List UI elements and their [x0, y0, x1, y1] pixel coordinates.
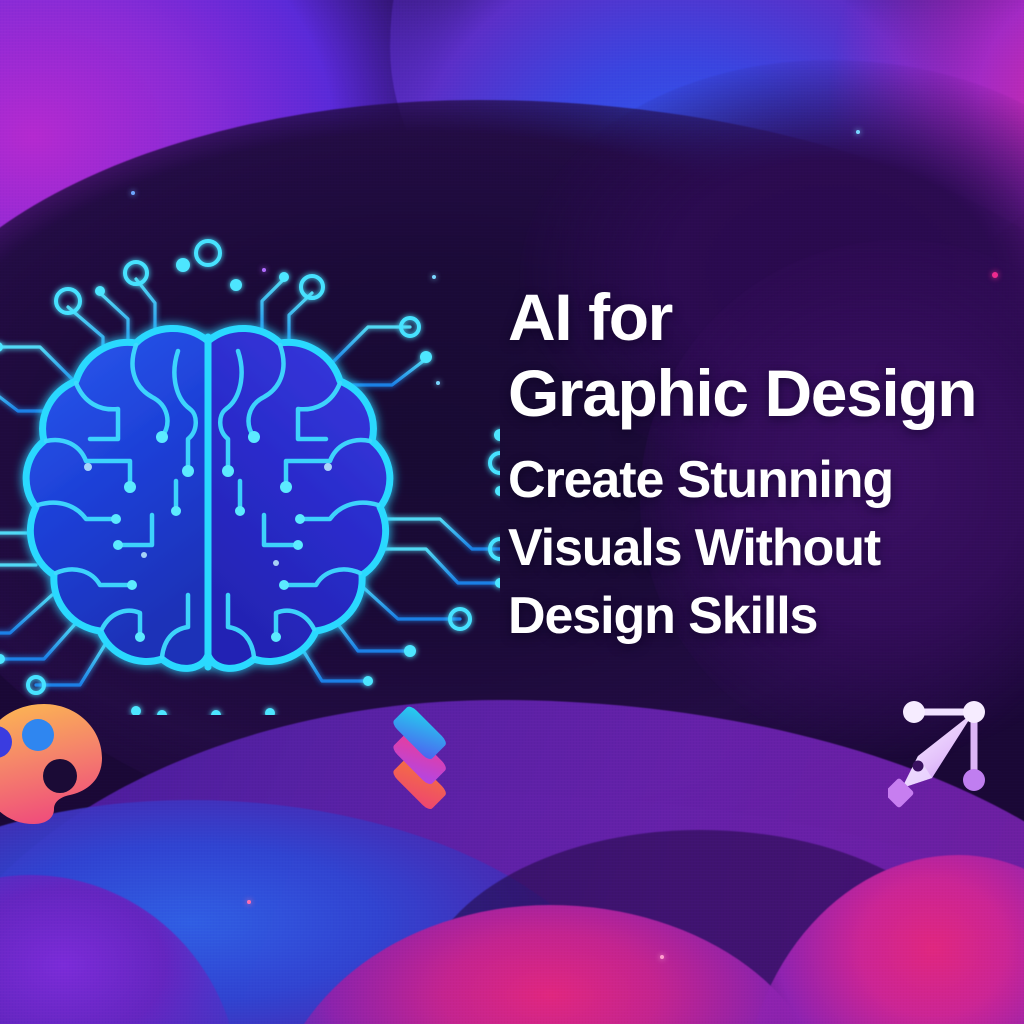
subheadline-line-2: Visuals Without — [508, 514, 1024, 582]
brain-illustration — [0, 215, 500, 715]
pen-anchor-corner — [963, 701, 985, 723]
subheadline-line-3: Design Skills — [508, 582, 1024, 650]
headline-line-1: AI for — [508, 278, 1024, 356]
palette-icon — [0, 696, 110, 828]
pen-tool-icon — [888, 696, 994, 808]
pen-anchor-bottom — [963, 769, 985, 791]
ai-circuit-brain-icon — [0, 215, 500, 715]
pen-nib-hole — [913, 761, 924, 772]
text-block: AI for Graphic Design Create Stunning Vi… — [508, 278, 1024, 650]
palette-dot-blue — [22, 719, 54, 751]
brain-body — [26, 328, 390, 668]
headline-line-2: Graphic Design — [508, 354, 1024, 432]
pen-anchor-left — [903, 701, 925, 723]
subheadline-line-1: Create Stunning — [508, 446, 1024, 514]
palette-thumb-hole — [43, 759, 77, 793]
layers-icon — [378, 706, 486, 812]
poster-canvas: AI for Graphic Design Create Stunning Vi… — [0, 0, 1024, 1024]
